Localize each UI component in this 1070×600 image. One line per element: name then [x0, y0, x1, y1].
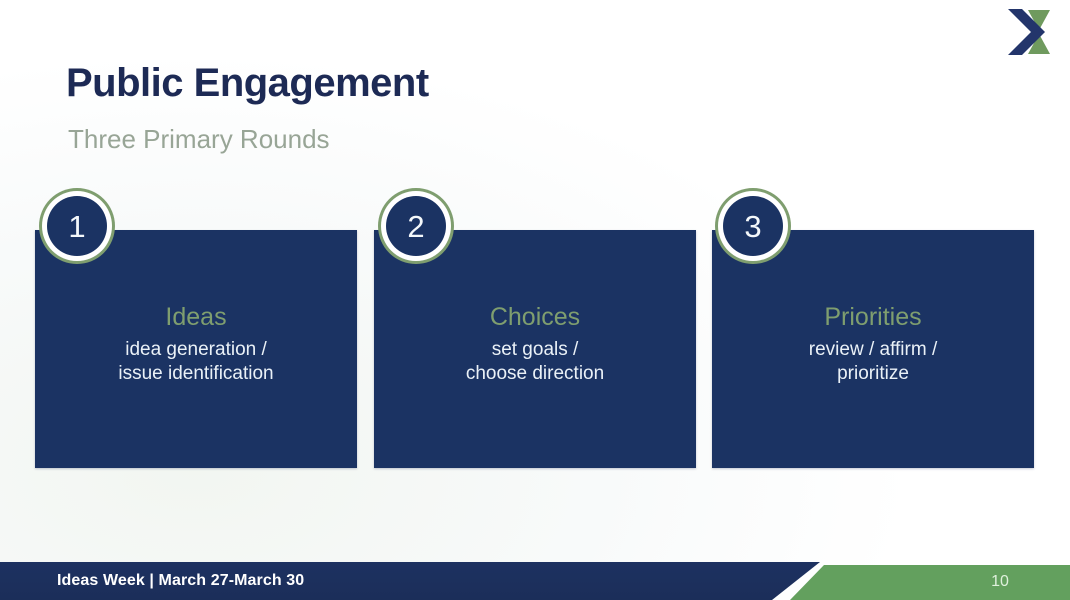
round-card-3-heading: Priorities — [722, 302, 1024, 333]
round-card-3: Priorities review / affirm / prioritize — [712, 230, 1034, 468]
round-card-1-body-line1: idea generation / — [45, 338, 347, 362]
round-card-1-body: idea generation / issue identification — [45, 338, 347, 386]
round-badge-2-number: 2 — [386, 196, 446, 256]
round-card-2-body-line2: choose direction — [384, 362, 686, 386]
page-subtitle: Three Primary Rounds — [68, 124, 330, 155]
round-card-1-heading: Ideas — [45, 302, 347, 333]
round-card-2-body-line1: set goals / — [384, 338, 686, 362]
round-badge-2-ring: 2 — [381, 191, 451, 261]
round-badge-2: 2 — [378, 188, 454, 264]
page-title: Public Engagement — [66, 60, 429, 106]
round-card-3-body: review / affirm / prioritize — [722, 338, 1024, 386]
page-number: 10 — [960, 573, 1040, 591]
round-badge-1-ring: 1 — [42, 191, 112, 261]
round-card-3-body-line1: review / affirm / — [722, 338, 1024, 362]
x-mark-logo — [998, 6, 1062, 58]
round-card-3-body-line2: prioritize — [722, 362, 1024, 386]
round-badge-3-number: 3 — [723, 196, 783, 256]
slide-canvas: Public Engagement Three Primary Rounds I… — [0, 0, 1070, 600]
footer-label: Ideas Week | March 27-March 30 — [57, 572, 304, 590]
round-badge-3: 3 — [715, 188, 791, 264]
round-card-2-heading: Choices — [384, 302, 686, 333]
round-card-2-body: set goals / choose direction — [384, 338, 686, 386]
round-card-2-content: Choices set goals / choose direction — [374, 302, 696, 386]
round-card-1-body-line2: issue identification — [45, 362, 347, 386]
round-card-1: Ideas idea generation / issue identifica… — [35, 230, 357, 468]
round-card-1-content: Ideas idea generation / issue identifica… — [35, 302, 357, 386]
round-card-2: Choices set goals / choose direction — [374, 230, 696, 468]
round-badge-1-number: 1 — [47, 196, 107, 256]
round-badge-1: 1 — [39, 188, 115, 264]
round-card-3-content: Priorities review / affirm / prioritize — [712, 302, 1034, 386]
round-badge-3-ring: 3 — [718, 191, 788, 261]
